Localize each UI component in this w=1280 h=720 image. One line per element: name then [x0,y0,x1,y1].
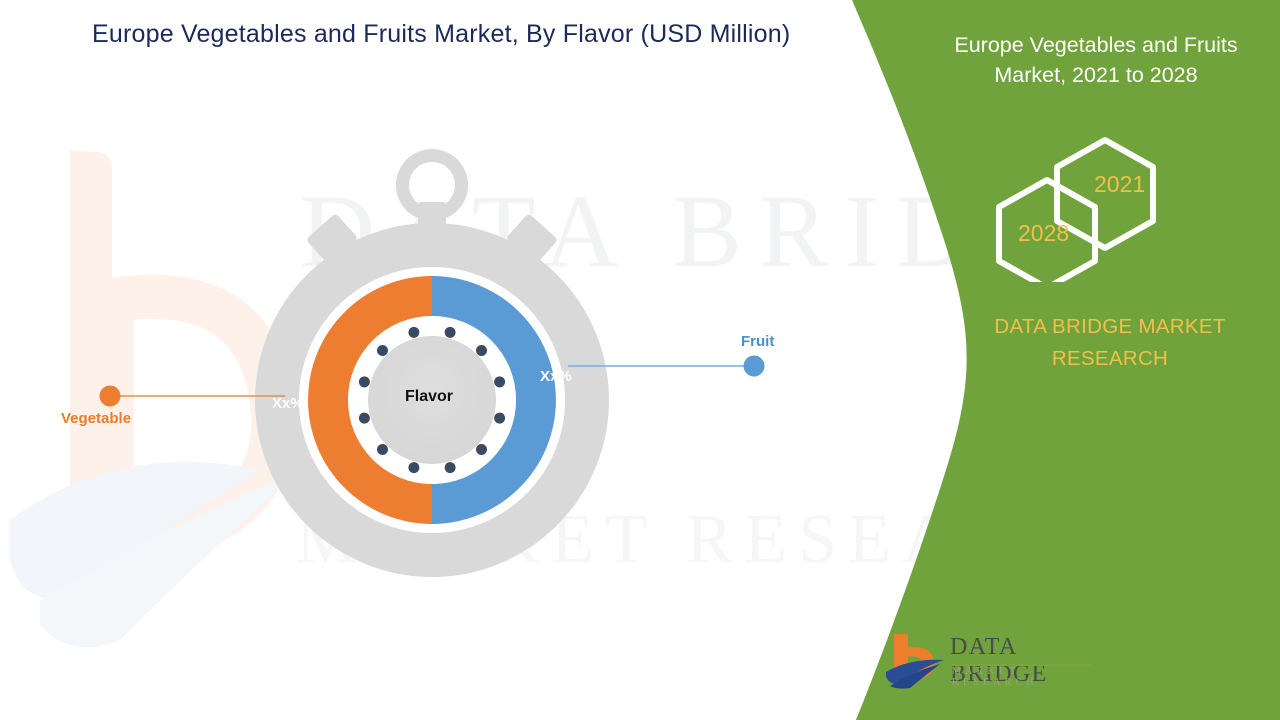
logo-mark [884,630,948,690]
legend-label-fruit: Fruit [741,333,774,350]
side-panel-brand: DATA BRIDGE MARKET RESEARCH [960,311,1260,375]
callout-dot-vegetable [100,386,121,407]
infographic-canvas: DATA BRIDGE MARKET RESEARCH Europe Veget… [0,0,1280,720]
hexagon-label-2021: 2021 [1094,171,1145,198]
company-logo: DATA BRIDGE MARKET RESEARCH [884,628,1100,696]
value-label-fruit: Xx% [540,368,572,385]
callout-dot-fruit [744,356,765,377]
side-panel-heading: Europe Vegetables and Fruits Market, 202… [928,30,1264,90]
logo-tagline: MARKET RESEARCH [952,666,1100,688]
value-label-vegetable: Xx% [272,395,304,412]
legend-label-vegetable: Vegetable [61,410,131,427]
hexagon-group [985,132,1190,282]
hexagon-label-2028: 2028 [1018,220,1069,247]
